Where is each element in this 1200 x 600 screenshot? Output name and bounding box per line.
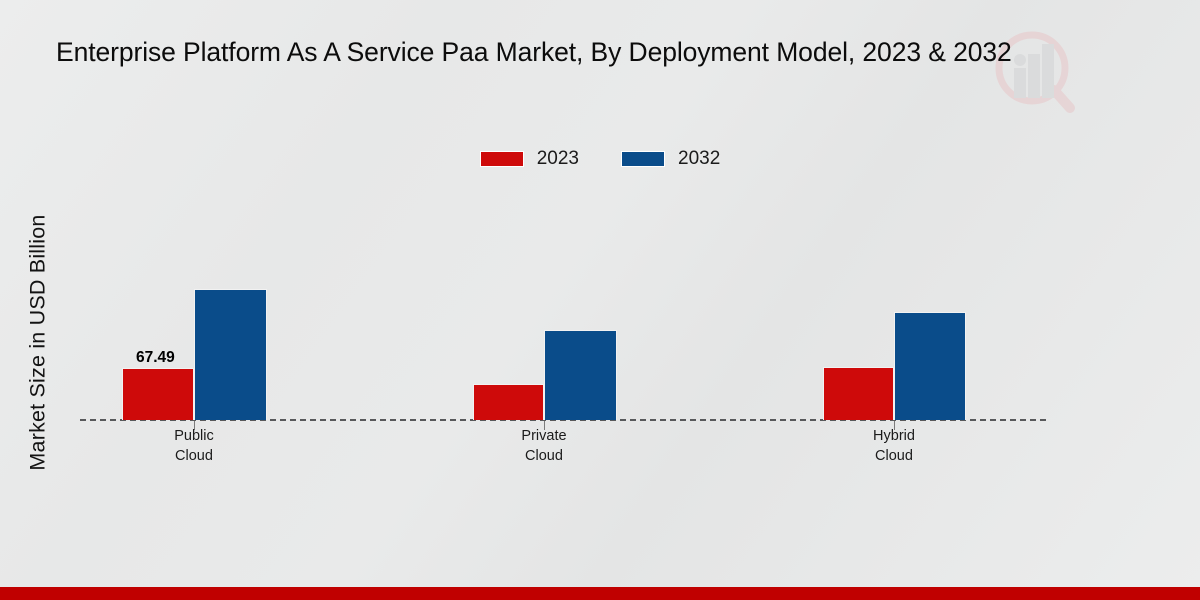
bar-value-label-public-cloud-2023: 67.49 bbox=[136, 349, 175, 367]
x-category-label-private-cloud-line1: Private bbox=[521, 428, 566, 444]
x-category-label-hybrid-cloud-line2: Cloud bbox=[875, 448, 913, 464]
x-category-label-private-cloud: Private Cloud bbox=[444, 427, 644, 466]
x-category-label-public-cloud: Public Cloud bbox=[94, 427, 294, 466]
plot-area: 67.49 Public Cloud Private Cloud Hybrid … bbox=[0, 0, 1200, 600]
bar-2032-hybrid-cloud[interactable] bbox=[894, 312, 966, 420]
bar-2023-hybrid-cloud[interactable] bbox=[823, 367, 894, 420]
x-category-label-public-cloud-line2: Cloud bbox=[175, 448, 213, 464]
bar-2023-private-cloud[interactable] bbox=[473, 384, 544, 420]
x-category-label-hybrid-cloud-line1: Hybrid bbox=[873, 428, 915, 444]
x-category-label-hybrid-cloud: Hybrid Cloud bbox=[794, 427, 994, 466]
bar-2032-private-cloud[interactable] bbox=[544, 330, 617, 420]
bottom-accent-strip bbox=[0, 587, 1200, 600]
bar-2032-public-cloud[interactable] bbox=[194, 289, 267, 420]
x-category-label-public-cloud-line1: Public bbox=[174, 428, 214, 444]
bar-2023-public-cloud[interactable] bbox=[122, 368, 194, 420]
x-category-label-private-cloud-line2: Cloud bbox=[525, 448, 563, 464]
chart-canvas: Enterprise Platform As A Service Paa Mar… bbox=[0, 0, 1200, 600]
